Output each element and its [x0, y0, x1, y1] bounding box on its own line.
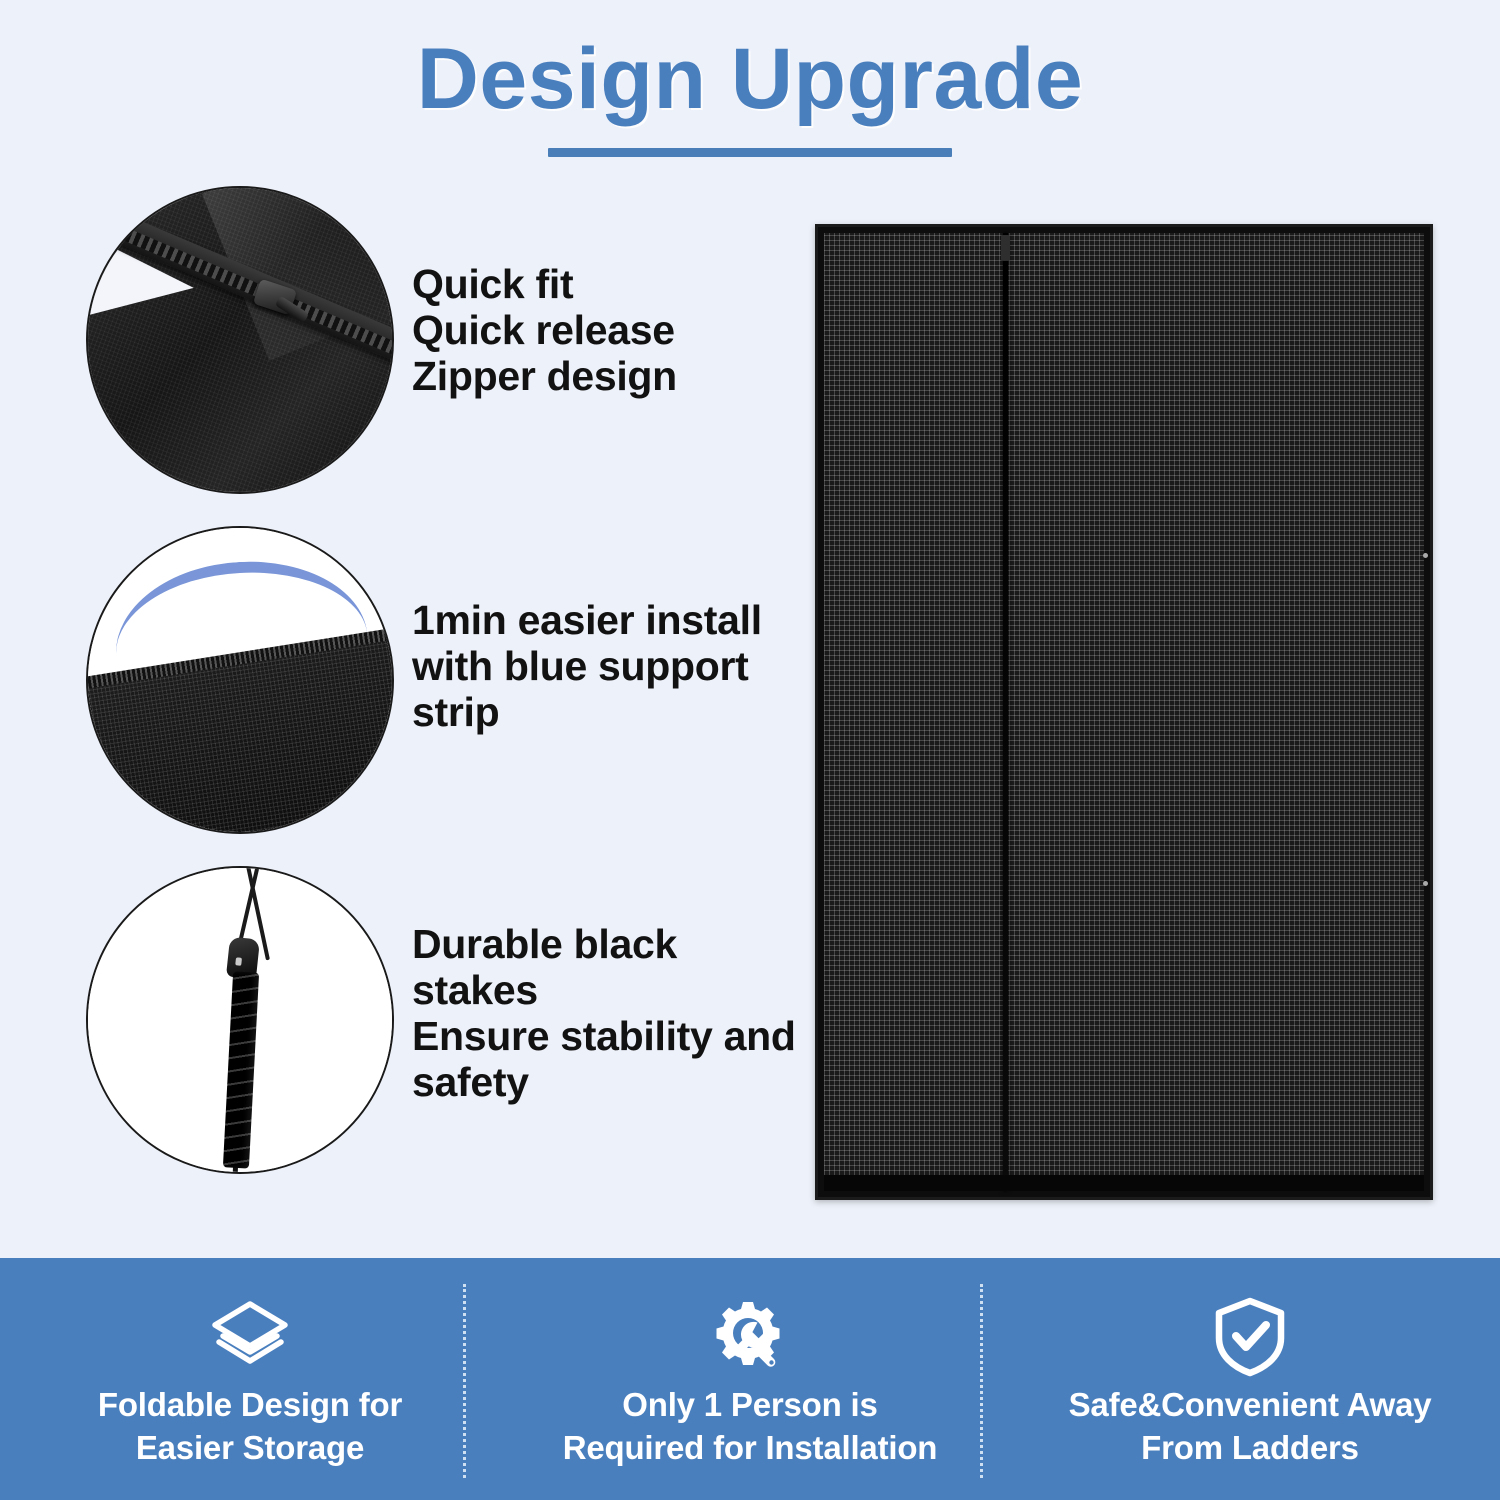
feature-item-stakes: Durable black stakes Ensure stability an… [86, 866, 806, 1206]
banner-item-foldable: Foldable Design for Easier Storage [0, 1258, 500, 1500]
banner-label-one-person: Only 1 Person is Required for Installati… [563, 1384, 938, 1470]
title-underline-rule [548, 148, 952, 157]
shield-check-icon [1211, 1298, 1289, 1376]
banner-label-safe: Safe&Convenient Away From Ladders [1069, 1384, 1432, 1470]
banner-line: Only 1 Person is [563, 1384, 938, 1427]
blue-support-strip-photo [86, 526, 394, 834]
feature-line: Zipper design [412, 354, 812, 400]
edge-marker-dot [1423, 553, 1428, 558]
feature-label-stakes: Durable black stakes Ensure stability an… [412, 922, 812, 1106]
feature-banner: Foldable Design for Easier Storage Only … [0, 1258, 1500, 1500]
gear-wrench-icon [707, 1298, 793, 1376]
feature-line: strip [412, 690, 812, 736]
banner-line: Required for Installation [563, 1427, 938, 1470]
banner-line: Safe&Convenient Away [1069, 1384, 1432, 1427]
banner-item-one-person: Only 1 Person is Required for Installati… [500, 1258, 1000, 1500]
feature-line: 1min easier install [412, 598, 812, 644]
black-screw-stake-photo [86, 866, 394, 1174]
zipper-pull-tab [1001, 235, 1010, 261]
foldable-layers-icon [207, 1298, 293, 1376]
page-title-container: Design Upgrade [0, 34, 1500, 124]
mesh-weave-texture [824, 233, 1424, 1191]
feature-item-zipper: Quick fit Quick release Zipper design [86, 186, 806, 526]
banner-line: From Ladders [1069, 1427, 1432, 1470]
feature-label-zipper: Quick fit Quick release Zipper design [412, 262, 812, 400]
banner-divider [980, 1284, 983, 1478]
banner-line: Foldable Design for [98, 1384, 402, 1427]
product-mesh-panel [815, 224, 1433, 1200]
feature-line: with blue support [412, 644, 812, 690]
feature-item-support-strip: 1min easier install with blue support st… [86, 526, 806, 866]
feature-list: Quick fit Quick release Zipper design 1m… [86, 186, 806, 1206]
center-zipper-seam [1003, 233, 1008, 1191]
banner-label-foldable: Foldable Design for Easier Storage [98, 1384, 402, 1470]
feature-line: Quick release [412, 308, 812, 354]
panel-bottom-hem [824, 1175, 1424, 1191]
feature-line: Durable black stakes [412, 922, 812, 1014]
edge-marker-dot [1423, 881, 1428, 886]
feature-line: Ensure stability and safety [412, 1014, 812, 1106]
banner-divider [463, 1284, 466, 1478]
zipper-closeup-photo [86, 186, 394, 494]
feature-line: Quick fit [412, 262, 812, 308]
feature-label-support-strip: 1min easier install with blue support st… [412, 598, 812, 736]
page-title: Design Upgrade [0, 34, 1500, 124]
banner-line: Easier Storage [98, 1427, 402, 1470]
banner-item-safe: Safe&Convenient Away From Ladders [1000, 1258, 1500, 1500]
